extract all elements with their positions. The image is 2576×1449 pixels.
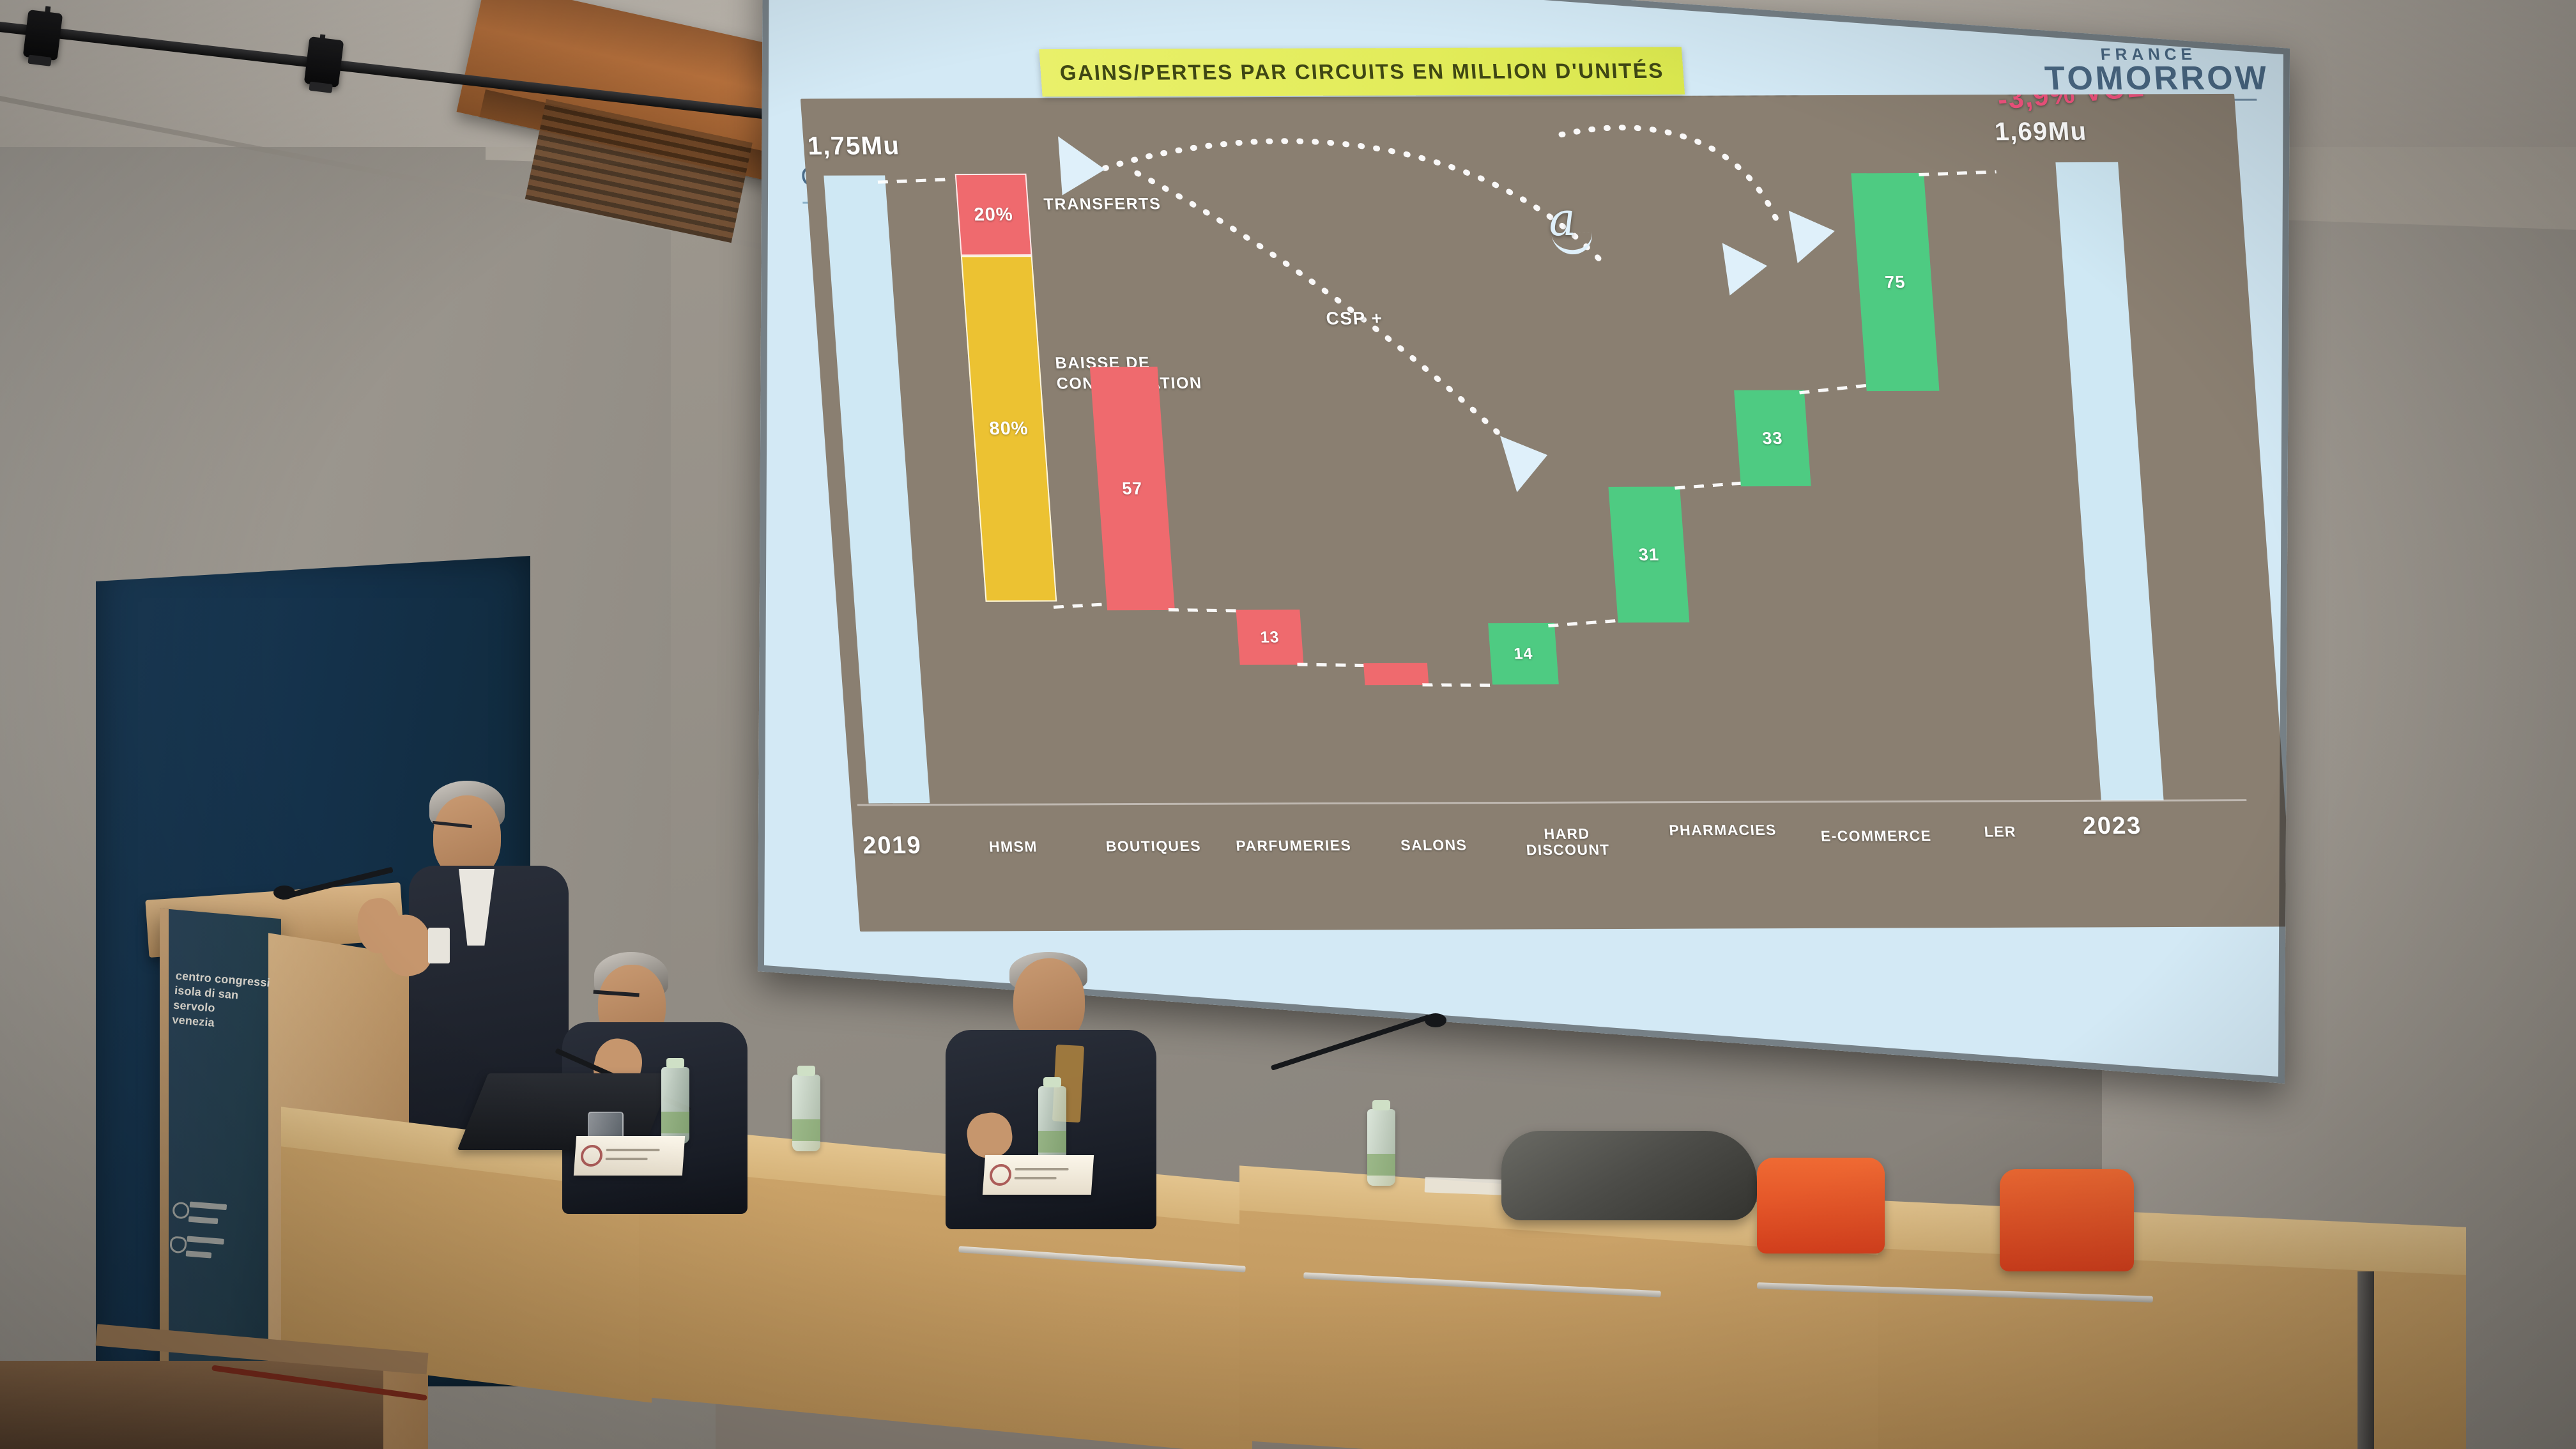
water-bottle-2 xyxy=(792,1075,820,1151)
venue-logos xyxy=(169,1192,232,1268)
table-front-far xyxy=(1878,1248,2466,1449)
water-bottle-3 xyxy=(1038,1086,1066,1163)
lectern-microphone-head xyxy=(273,885,295,900)
water-bottle-4 xyxy=(1367,1109,1395,1186)
panelist-two-microphone-head xyxy=(1425,1013,1446,1027)
projection-screen: FRANCE TOMORROW CHANNEL SHIFTS TO BENEFI… xyxy=(758,0,2290,1084)
folded-jacket xyxy=(1501,1131,1757,1220)
name-placard-2 xyxy=(983,1155,1094,1195)
screen-frame-border xyxy=(758,0,2290,1084)
spotlight-icon xyxy=(23,10,63,61)
panelist-one-glasses-icon xyxy=(592,990,639,1009)
name-placard-1 xyxy=(574,1136,685,1176)
stage-floor xyxy=(0,1361,383,1449)
lectern-trim xyxy=(160,908,169,1439)
conference-room-photo: FRANCE TOMORROW CHANNEL SHIFTS TO BENEFI… xyxy=(0,0,2576,1449)
speaker-badge xyxy=(428,928,450,963)
venue-sign: centro congressi isola di san servolo ve… xyxy=(172,969,279,1035)
chair-2 xyxy=(2000,1169,2134,1271)
spotlight-icon xyxy=(304,36,344,88)
table-leg xyxy=(2357,1271,2374,1449)
water-bottle-1 xyxy=(661,1067,689,1144)
chair-1 xyxy=(1757,1158,1885,1253)
